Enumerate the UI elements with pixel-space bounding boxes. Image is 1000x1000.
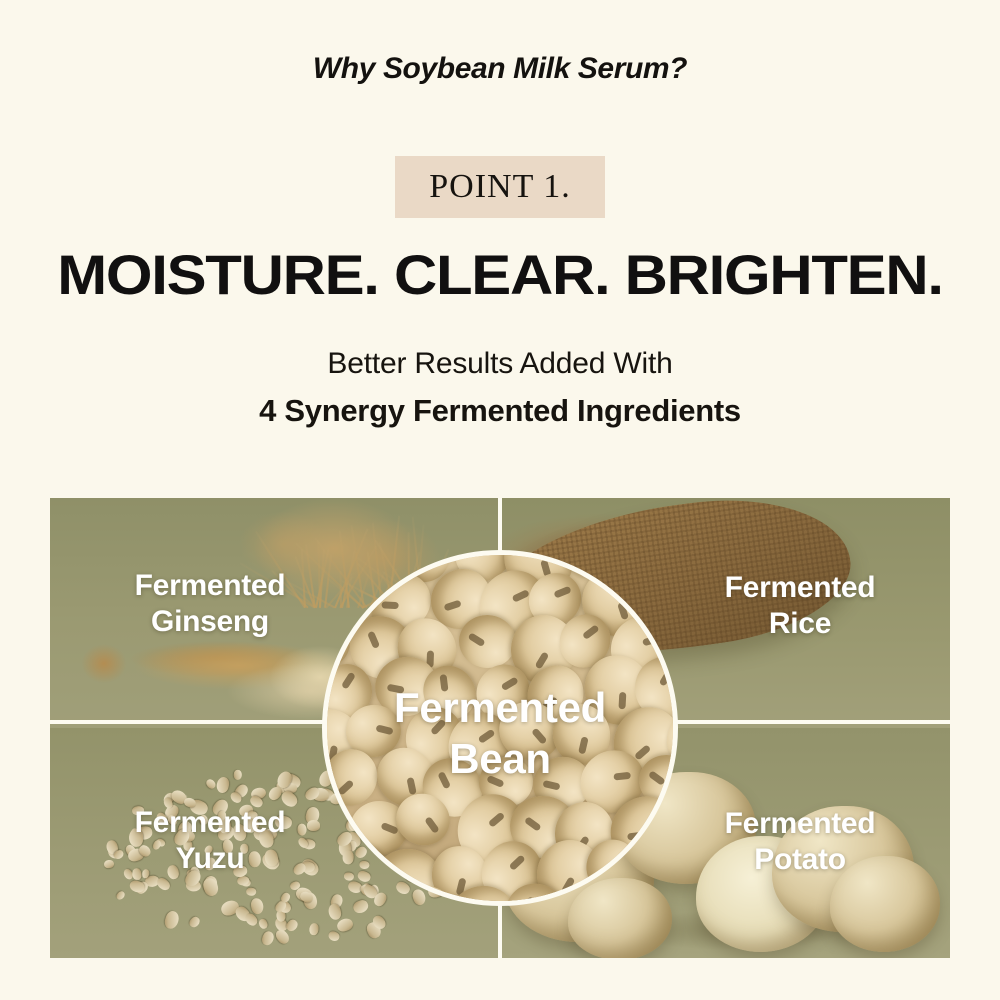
ingredient-label-bean: Fermented Bean [330, 682, 670, 784]
ingredient-label-potato: Fermented Potato [660, 806, 940, 878]
subheading-block: Better Results Added With 4 Synergy Ferm… [0, 344, 1000, 432]
ingredient-label-ginseng: Fermented Ginseng [70, 568, 350, 640]
eyebrow-question: Why Soybean Milk Serum? [0, 52, 1000, 86]
point-badge-label: POINT 1. [429, 170, 571, 204]
ingredient-label-rice: Fermented Rice [660, 570, 940, 642]
point-badge: POINT 1. [395, 156, 605, 218]
ingredient-label-yuzu: Fermented Yuzu [70, 805, 350, 877]
subheading-line-1: Better Results Added With [0, 344, 1000, 384]
page-title: MOISTURE. CLEAR. BRIGHTEN. [0, 242, 1000, 307]
subheading-line-2: 4 Synergy Fermented Ingredients [0, 391, 1000, 432]
